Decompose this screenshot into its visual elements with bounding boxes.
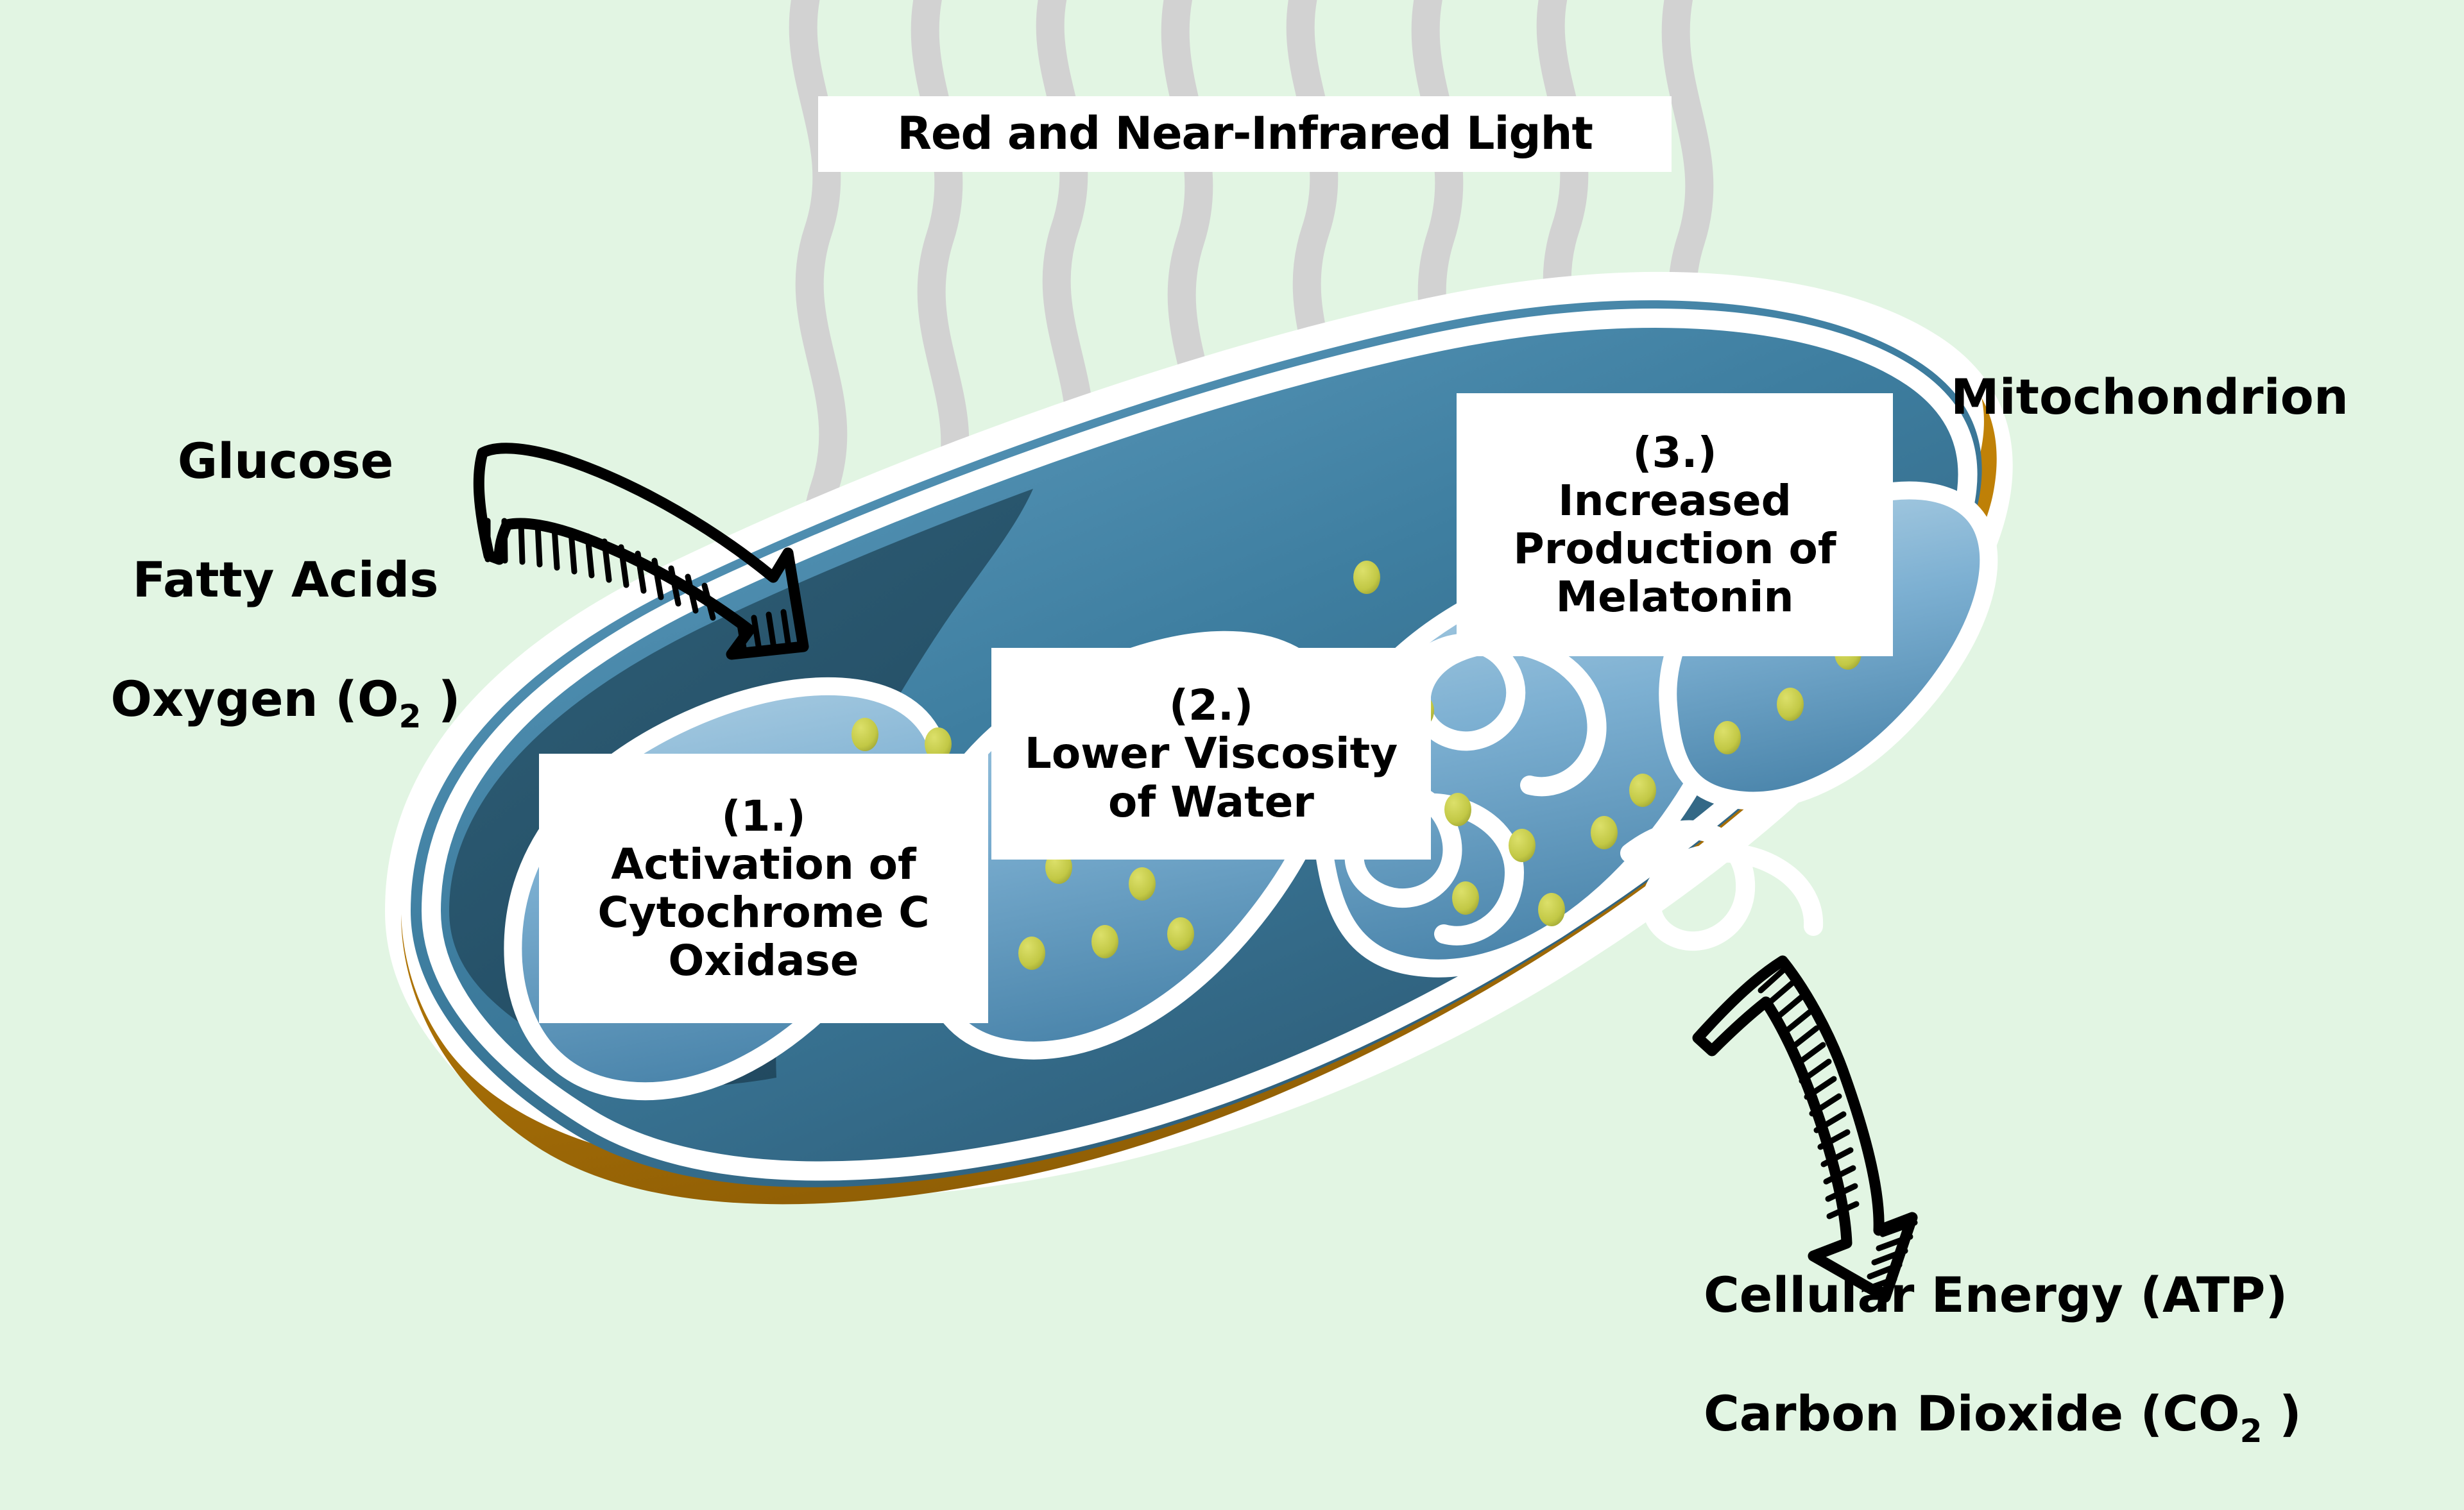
step-1-line-2: Cytochrome C — [597, 888, 929, 937]
outputs-label: Cellular Energy (ATP) Carbon Dioxide (CO… — [1704, 1206, 2422, 1510]
output-line-2-subscript: 2 — [2240, 1412, 2263, 1450]
output-line-2: Carbon Dioxide (CO2 ) — [1704, 1384, 2422, 1450]
title-label: Red and Near-Infrared Light — [818, 96, 1672, 172]
step-3-callout: (3.) Increased Production of Melatonin — [1457, 393, 1893, 656]
step-1-line-1: Activation of — [611, 840, 916, 888]
step-3-line-3: Melatonin — [1555, 573, 1793, 621]
output-line-2-post: ) — [2263, 1385, 2302, 1442]
inputs-label: Glucose Fatty Acids Oxygen (O2 ) — [61, 372, 510, 795]
input-line-2: Fatty Acids — [61, 550, 510, 610]
step-1-number: (1.) — [721, 792, 805, 840]
step-2-callout: (2.) Lower Viscosity of Water — [991, 648, 1431, 860]
input-line-1: Glucose — [61, 432, 510, 491]
step-2-line-2: of Water — [1108, 778, 1314, 826]
step-2-number: (2.) — [1169, 681, 1253, 729]
output-line-2-pre: Carbon Dioxide (CO — [1704, 1385, 2240, 1442]
step-3-line-2: Production of — [1513, 525, 1836, 573]
step-1-callout: (1.) Activation of Cytochrome C Oxidase — [539, 754, 988, 1023]
step-1-line-3: Oxidase — [668, 937, 859, 985]
input-line-3-pre: Oxygen (O — [110, 670, 398, 727]
input-line-3-post: ) — [421, 670, 460, 727]
input-arrow — [479, 448, 803, 654]
step-3-line-1: Increased — [1558, 477, 1792, 525]
input-line-3: Oxygen (O2 ) — [61, 670, 510, 736]
step-2-line-1: Lower Viscosity — [1025, 729, 1398, 777]
step-3-number: (3.) — [1632, 428, 1716, 477]
organelle-label-text: Mitochondrion — [1951, 368, 2348, 425]
input-line-3-subscript: 2 — [398, 697, 421, 735]
organelle-label: Mitochondrion — [1951, 308, 2348, 427]
diagram-canvas: Red and Near-Infrared Light Glucose Fatt… — [0, 0, 2464, 1386]
output-line-1: Cellular Energy (ATP) — [1704, 1266, 2422, 1325]
title-text: Red and Near-Infrared Light — [897, 108, 1593, 160]
